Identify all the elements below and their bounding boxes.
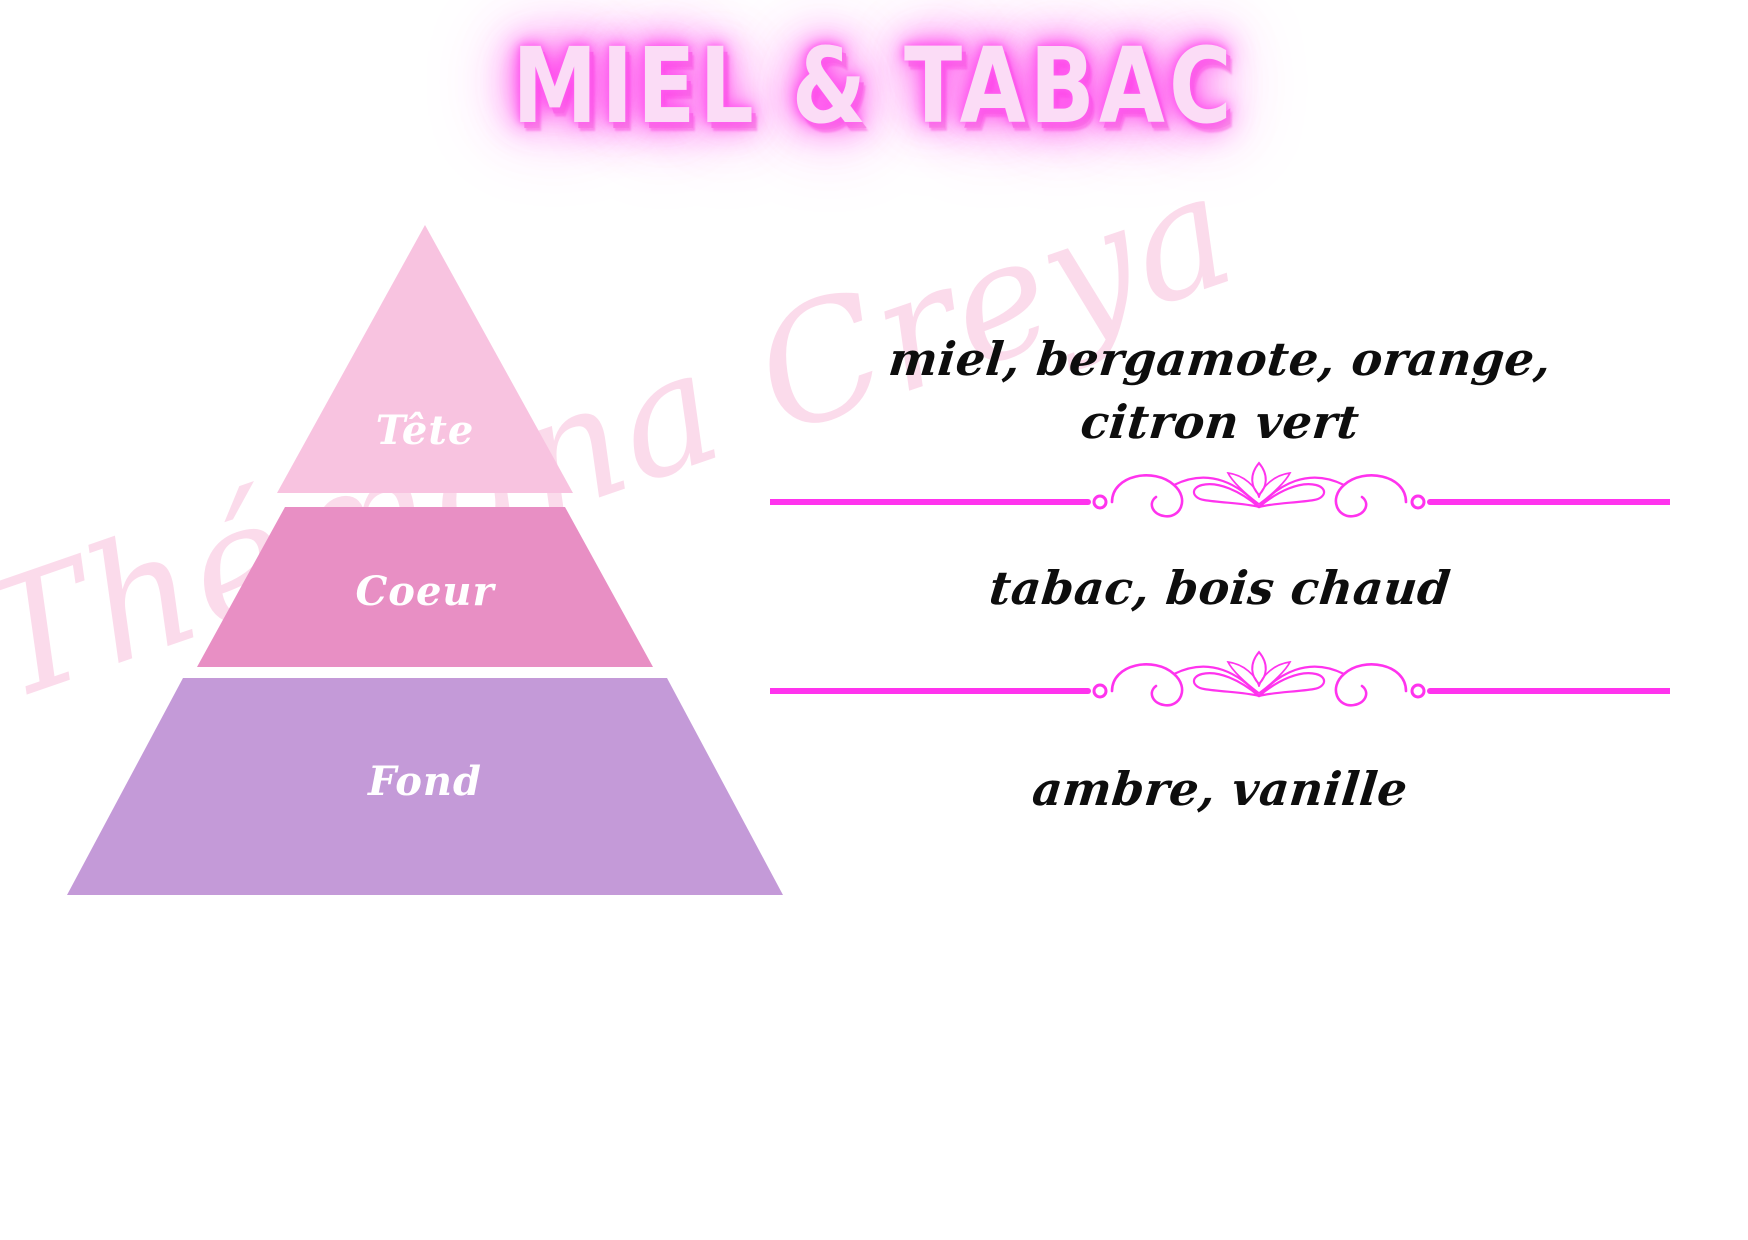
pyramid-tier-fond[interactable]	[55, 678, 795, 895]
notes-column: miel, bergamote, orange, citron vert	[770, 310, 1670, 822]
title-container: MIEL & TABAC	[0, 32, 1748, 141]
tier-shape-coeur	[197, 507, 653, 667]
poster-canvas: Thémana Creya MIEL & TABAC Tête Coeur Fo…	[0, 0, 1748, 1240]
note-line: miel, bergamote, orange,	[767, 328, 1674, 391]
note-line: tabac, bois chaud	[767, 557, 1674, 620]
note-group-top: miel, bergamote, orange, citron vert	[770, 310, 1670, 461]
fragrance-pyramid: Tête Coeur Fond	[55, 225, 795, 895]
ornamental-divider-icon	[770, 461, 1670, 527]
pyramid-tier-tete[interactable]	[55, 225, 795, 493]
tier-shape-tete	[277, 225, 573, 493]
note-line: ambre, vanille	[767, 758, 1674, 821]
tier-shape-fond	[67, 678, 783, 895]
note-line: citron vert	[767, 391, 1674, 454]
pyramid-tier-coeur[interactable]	[55, 507, 795, 667]
page-title: MIEL & TABAC	[512, 32, 1235, 141]
note-group-base: ambre, vanille	[770, 716, 1670, 821]
ornamental-divider-icon	[770, 650, 1670, 716]
note-group-heart: tabac, bois chaud	[770, 527, 1670, 650]
